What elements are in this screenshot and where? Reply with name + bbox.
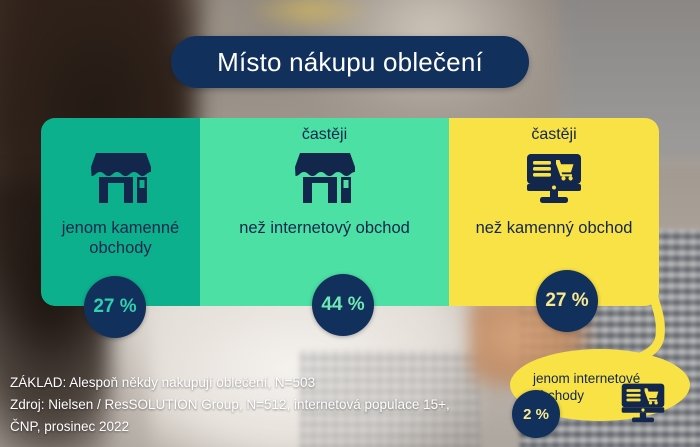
value-badge-panel-3: 27 % (536, 270, 598, 332)
panel-nez-internetovy-obchod: častěji (200, 118, 449, 306)
background-highlight (250, 0, 370, 30)
footer-line-base: ZÁKLAD: Alespoň někdy nakupují oblečení,… (10, 372, 530, 394)
value-badge-panel-2: 44 % (312, 274, 374, 336)
page-title-text: Místo nákupu oblečení (217, 47, 483, 78)
storefront-icon (91, 147, 151, 209)
panel-2-label: než internetový obchod (231, 218, 418, 238)
footer-notes: ZÁKLAD: Alespoň někdy nakupují oblečení,… (10, 372, 530, 438)
panel-2-frequency-label: častěji (302, 125, 347, 145)
monitor-cart-icon (525, 147, 583, 209)
value-badge-1-text: 27 % (93, 296, 136, 318)
monitor-cart-icon (620, 382, 666, 428)
footer-line-source: Zdroj: Nielsen / ResSOLUTION Group, N=51… (10, 394, 530, 416)
value-badge-3-text: 27 % (545, 290, 588, 312)
footer-line-source-cont: ČNP, prosinec 2022 (10, 416, 530, 438)
panel-3-frequency-label: častěji (531, 125, 576, 145)
page-title: Místo nákupu oblečení (171, 36, 529, 88)
storefront-icon (295, 147, 355, 209)
value-badge-panel-1: 27 % (84, 276, 146, 338)
value-badge-2-text: 44 % (321, 294, 364, 316)
panel-1-label: jenom kamenné obchody (41, 218, 200, 258)
infographic-canvas: Místo nákupu oblečení (0, 0, 700, 447)
panel-3-label: než kamenný obchod (468, 218, 641, 238)
